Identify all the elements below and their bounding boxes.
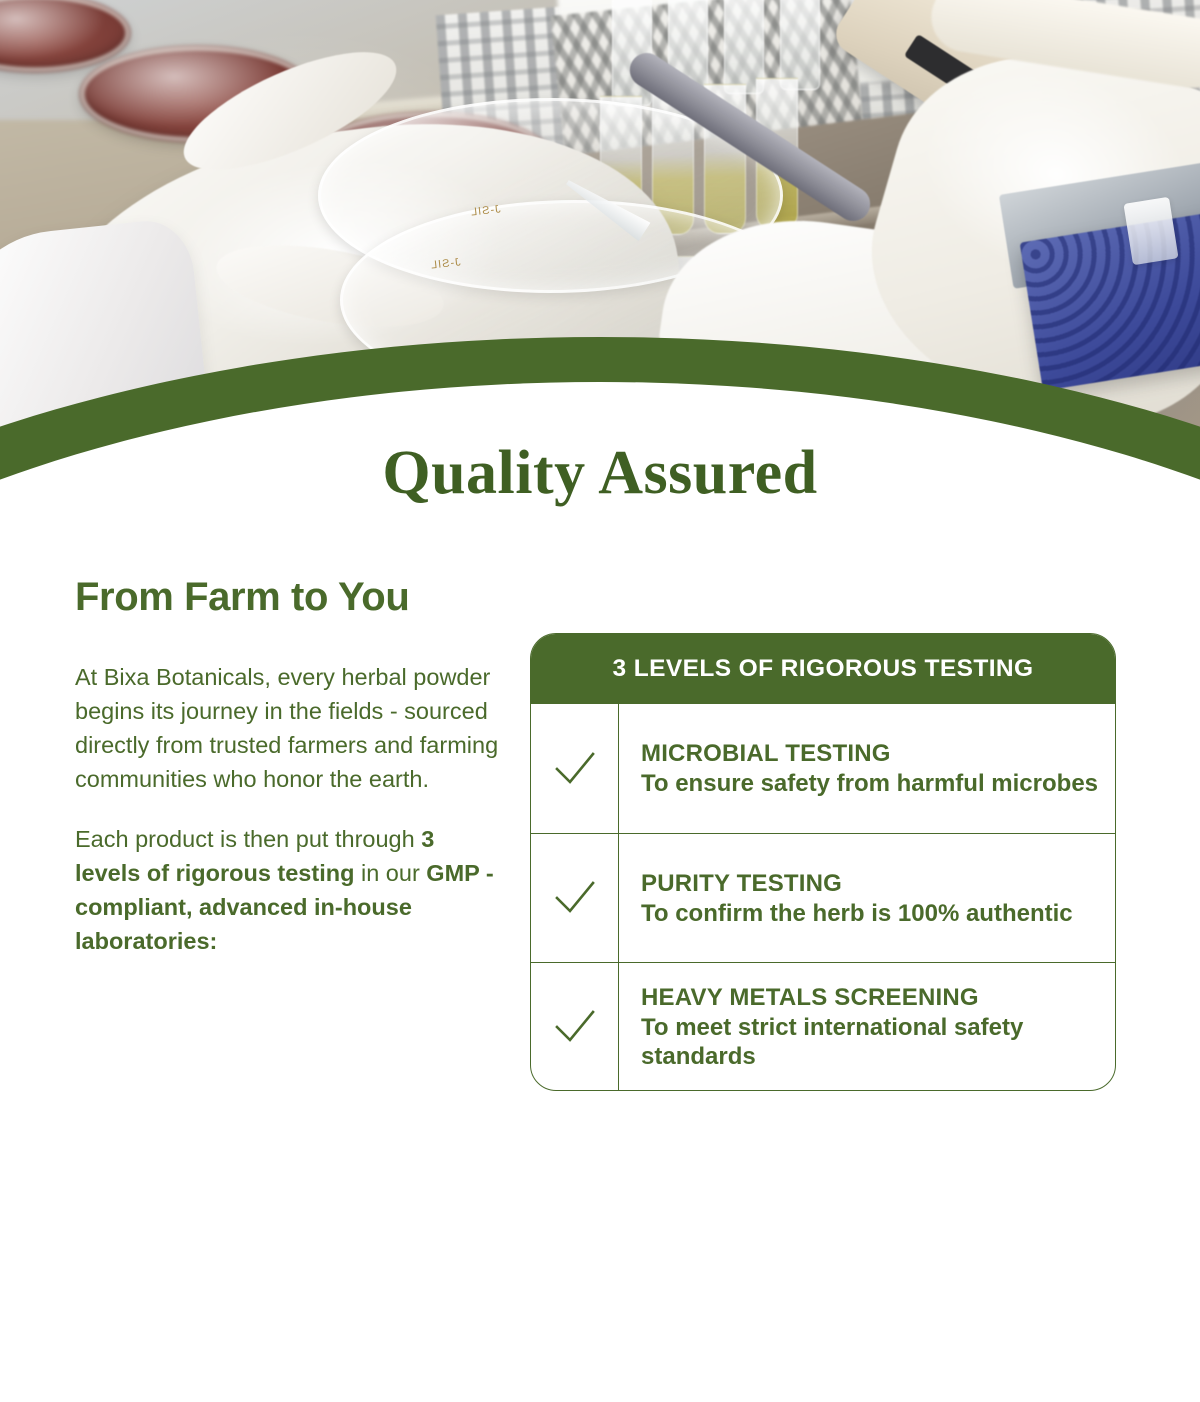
page-title: Quality Assured (0, 438, 1200, 509)
row-description: To confirm the herb is 100% authentic (641, 899, 1099, 928)
row-text: HEAVY METALS SCREENING To meet strict in… (619, 963, 1115, 1091)
paragraph-2-text-2: in our (354, 860, 426, 886)
row-text: MICROBIAL TESTING To ensure safety from … (619, 704, 1115, 833)
row-title: PURITY TESTING (641, 869, 1099, 898)
check-cell (531, 834, 619, 962)
checkmark-icon (553, 1007, 597, 1047)
content-area: Quality Assured From Farm to You At Bixa… (0, 0, 1200, 1200)
card-header: 3 LEVELS OF RIGOROUS TESTING (531, 634, 1115, 704)
row-title: HEAVY METALS SCREENING (641, 983, 1099, 1012)
paragraph-2: Each product is then put through 3 level… (75, 822, 505, 958)
check-cell (531, 963, 619, 1091)
check-cell (531, 704, 619, 833)
testing-levels-card: 3 LEVELS OF RIGOROUS TESTING MICROBIAL T… (530, 633, 1116, 1091)
row-description: To ensure safety from harmful microbes (641, 769, 1099, 798)
table-row: PURITY TESTING To confirm the herb is 10… (531, 833, 1115, 962)
row-description: To meet strict international safety stan… (641, 1013, 1099, 1071)
table-row: MICROBIAL TESTING To ensure safety from … (531, 704, 1115, 833)
row-text: PURITY TESTING To confirm the herb is 10… (619, 834, 1115, 962)
testing-rows: MICROBIAL TESTING To ensure safety from … (531, 704, 1115, 1091)
table-row: HEAVY METALS SCREENING To meet strict in… (531, 962, 1115, 1091)
paragraph-2-text-1: Each product is then put through (75, 826, 421, 852)
checkmark-icon (553, 878, 597, 918)
checkmark-icon (553, 749, 597, 789)
row-title: MICROBIAL TESTING (641, 739, 1099, 768)
paragraph-1: At Bixa Botanicals, every herbal powder … (75, 660, 505, 796)
section-body: At Bixa Botanicals, every herbal powder … (75, 660, 505, 984)
section-heading: From Farm to You (75, 575, 409, 620)
